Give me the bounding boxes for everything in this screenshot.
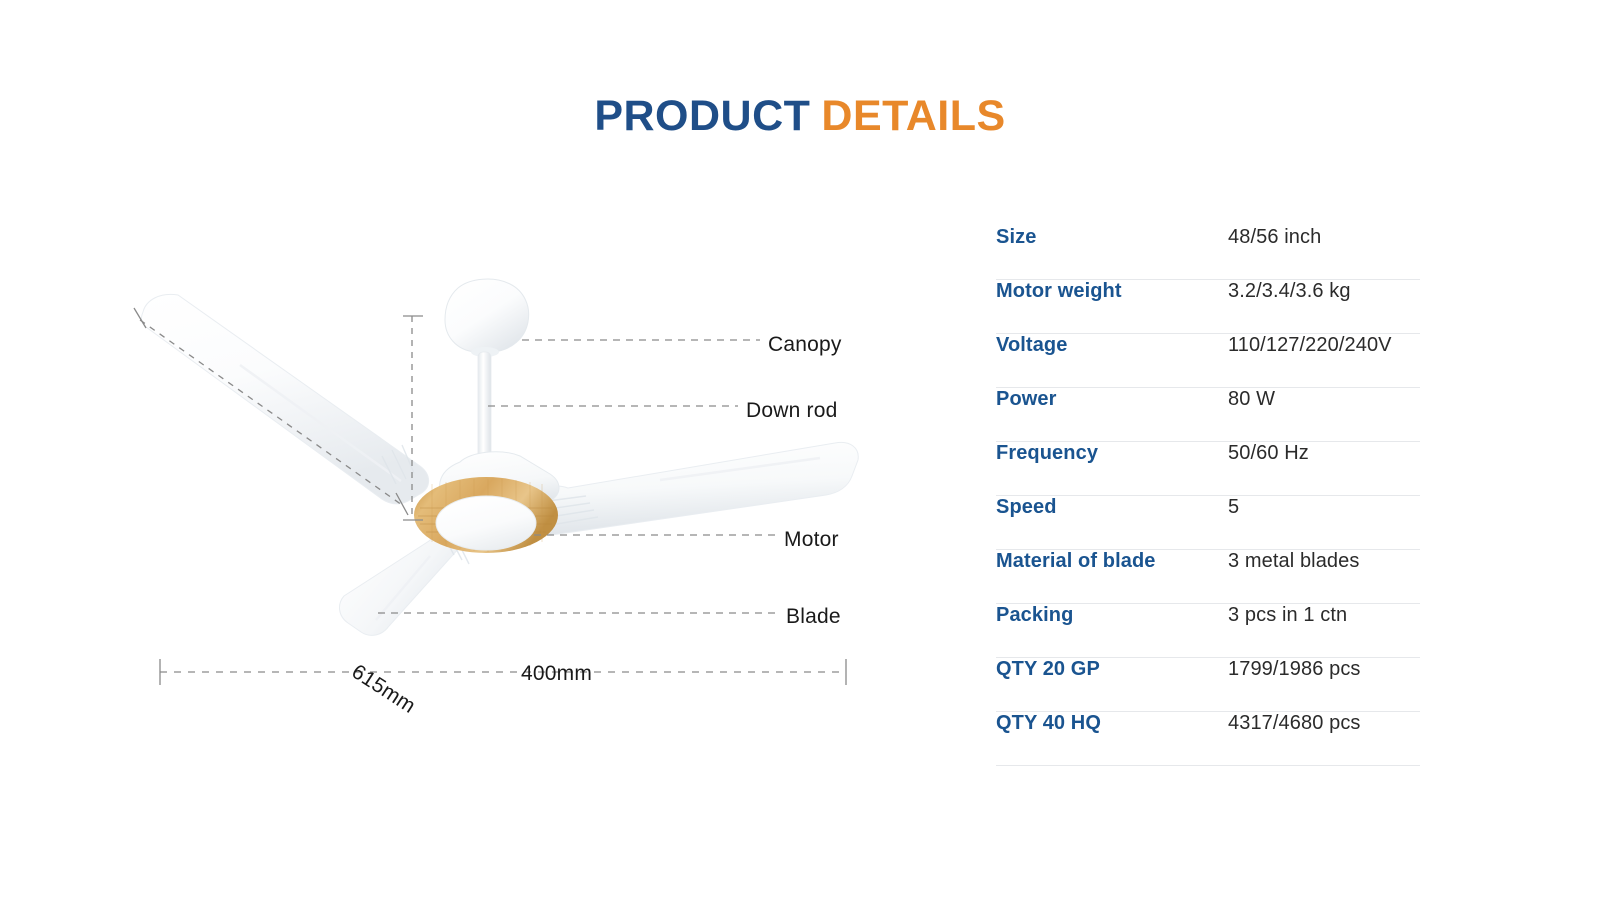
spec-value-material-of-blade: 3 metal blades (1228, 550, 1359, 573)
callout-label-canopy: Canopy (768, 333, 842, 357)
spec-value-speed: 5 (1228, 496, 1239, 519)
spec-label-size: Size (996, 226, 1228, 249)
spec-value-power: 80 W (1228, 388, 1275, 411)
callout-label-motor: Motor (784, 528, 839, 552)
product-details-page: PRODUCTDETAILS (0, 0, 1600, 900)
spec-label-voltage: Voltage (996, 334, 1228, 357)
specifications-table: Size 48/56 inch Motor weight 3.2/3.4/3.6… (996, 226, 1420, 766)
spec-label-frequency: Frequency (996, 442, 1228, 465)
spec-label-speed: Speed (996, 496, 1228, 519)
table-row: Voltage 110/127/220/240V (996, 334, 1420, 388)
page-title-accent: DETAILS (821, 92, 1005, 140)
table-row: QTY 20 GP 1799/1986 pcs (996, 658, 1420, 712)
motor-hub (414, 452, 559, 553)
page-title: PRODUCTDETAILS (0, 92, 1600, 141)
spec-value-qty-20-gp: 1799/1986 pcs (1228, 658, 1361, 681)
spec-value-voltage: 110/127/220/240V (1228, 334, 1392, 357)
table-row: Motor weight 3.2/3.4/3.6 kg (996, 280, 1420, 334)
callout-label-blade: Blade (786, 605, 841, 629)
blade-right (532, 442, 858, 535)
motor-dome (436, 496, 536, 550)
spec-label-qty-20-gp: QTY 20 GP (996, 658, 1228, 681)
table-row: Size 48/56 inch (996, 226, 1420, 280)
spec-label-motor-weight: Motor weight (996, 280, 1228, 303)
spec-value-motor-weight: 3.2/3.4/3.6 kg (1228, 280, 1351, 303)
spec-label-power: Power (996, 388, 1228, 411)
table-row: QTY 40 HQ 4317/4680 pcs (996, 712, 1420, 766)
table-row: Frequency 50/60 Hz (996, 442, 1420, 496)
spec-label-packing: Packing (996, 604, 1228, 627)
dimension-1400mm (160, 659, 846, 685)
spec-value-size: 48/56 inch (1228, 226, 1321, 249)
blade-upper-left (141, 294, 428, 503)
spec-value-frequency: 50/60 Hz (1228, 442, 1309, 465)
spec-value-qty-40-hq: 4317/4680 pcs (1228, 712, 1361, 735)
table-row: Packing 3 pcs in 1 ctn (996, 604, 1420, 658)
table-row: Material of blade 3 metal blades (996, 550, 1420, 604)
page-title-primary: PRODUCT (594, 92, 810, 140)
canopy (445, 279, 529, 357)
table-row: Power 80 W (996, 388, 1420, 442)
spec-value-packing: 3 pcs in 1 ctn (1228, 604, 1347, 627)
callout-label-down-rod: Down rod (746, 399, 837, 423)
spec-label-material-of-blade: Material of blade (996, 550, 1228, 573)
spec-label-qty-40-hq: QTY 40 HQ (996, 712, 1228, 735)
dimension-label-400mm: 400mm (521, 662, 592, 686)
table-row: Speed 5 (996, 496, 1420, 550)
